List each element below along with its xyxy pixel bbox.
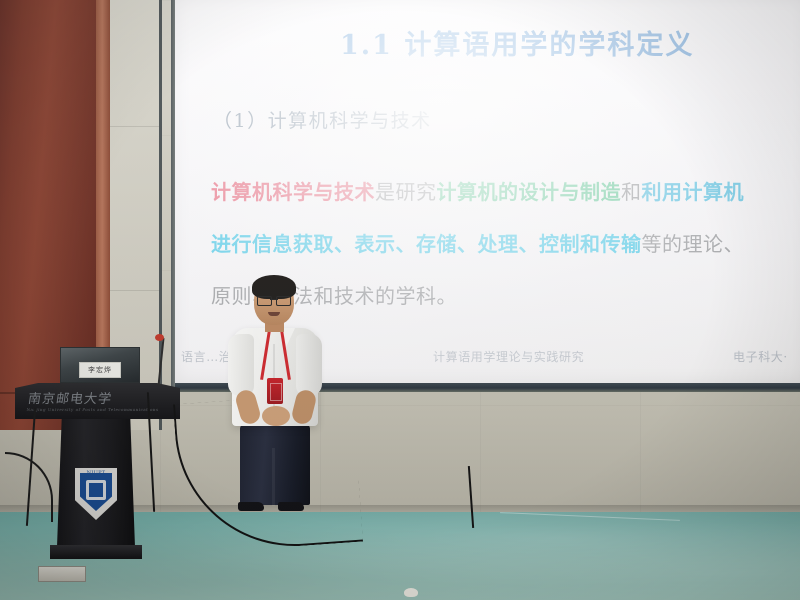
body-segment-design: 计算机的设计与制造 bbox=[437, 180, 622, 204]
university-crest-icon: NJUPT bbox=[75, 468, 117, 520]
microphone-icon bbox=[155, 334, 164, 341]
lecture-photo: 1.1 计算语用学的学科定义 （1）计算机科学与技术 计算机科学与技术是研究计算… bbox=[0, 0, 800, 600]
speaker-sleeve-right bbox=[296, 334, 322, 396]
body-segment-use: 利用计算机 bbox=[642, 180, 745, 204]
glasses-icon bbox=[257, 296, 291, 304]
slide-body-line-2: 进行信息获取、表示、存储、处理、控制和传输等的理论、 bbox=[211, 228, 744, 257]
body-segment-connector-1: 是研究 bbox=[375, 180, 437, 204]
floor-small-object bbox=[404, 588, 418, 597]
podium-base bbox=[50, 545, 142, 559]
slide-subheading: （1）计算机科学与技术 bbox=[213, 106, 432, 133]
body-segment-term: 计算机科学与技术 bbox=[211, 180, 375, 204]
footer-right-text: 电子科大· bbox=[733, 348, 788, 365]
footer-middle-text: 计算语用学理论与实践研究 bbox=[433, 348, 584, 365]
body-segment-processing: 进行信息获取、表示、存储、处理、控制和传输 bbox=[211, 232, 642, 256]
body-segment-theory: 等的理论、 bbox=[642, 232, 745, 256]
slide-title: 1.1 计算语用学的学科定义 bbox=[340, 23, 760, 62]
podium-university-latin: Nanjing University of Posts and Telecomm… bbox=[26, 407, 167, 412]
body-segment-connector-2: 和 bbox=[621, 180, 642, 204]
floor-power-box bbox=[38, 566, 86, 582]
speaker-sleeve-left bbox=[228, 334, 254, 396]
glasses-bridge bbox=[270, 299, 278, 300]
slide-body-line-1: 计算机科学与技术是研究计算机的设计与制造和利用计算机 bbox=[211, 176, 744, 205]
podium-university-script: 南京邮电大学 bbox=[27, 392, 113, 407]
crest-emblem-mark bbox=[86, 480, 106, 500]
speaker-name-card: 李宏烨 bbox=[79, 362, 121, 378]
